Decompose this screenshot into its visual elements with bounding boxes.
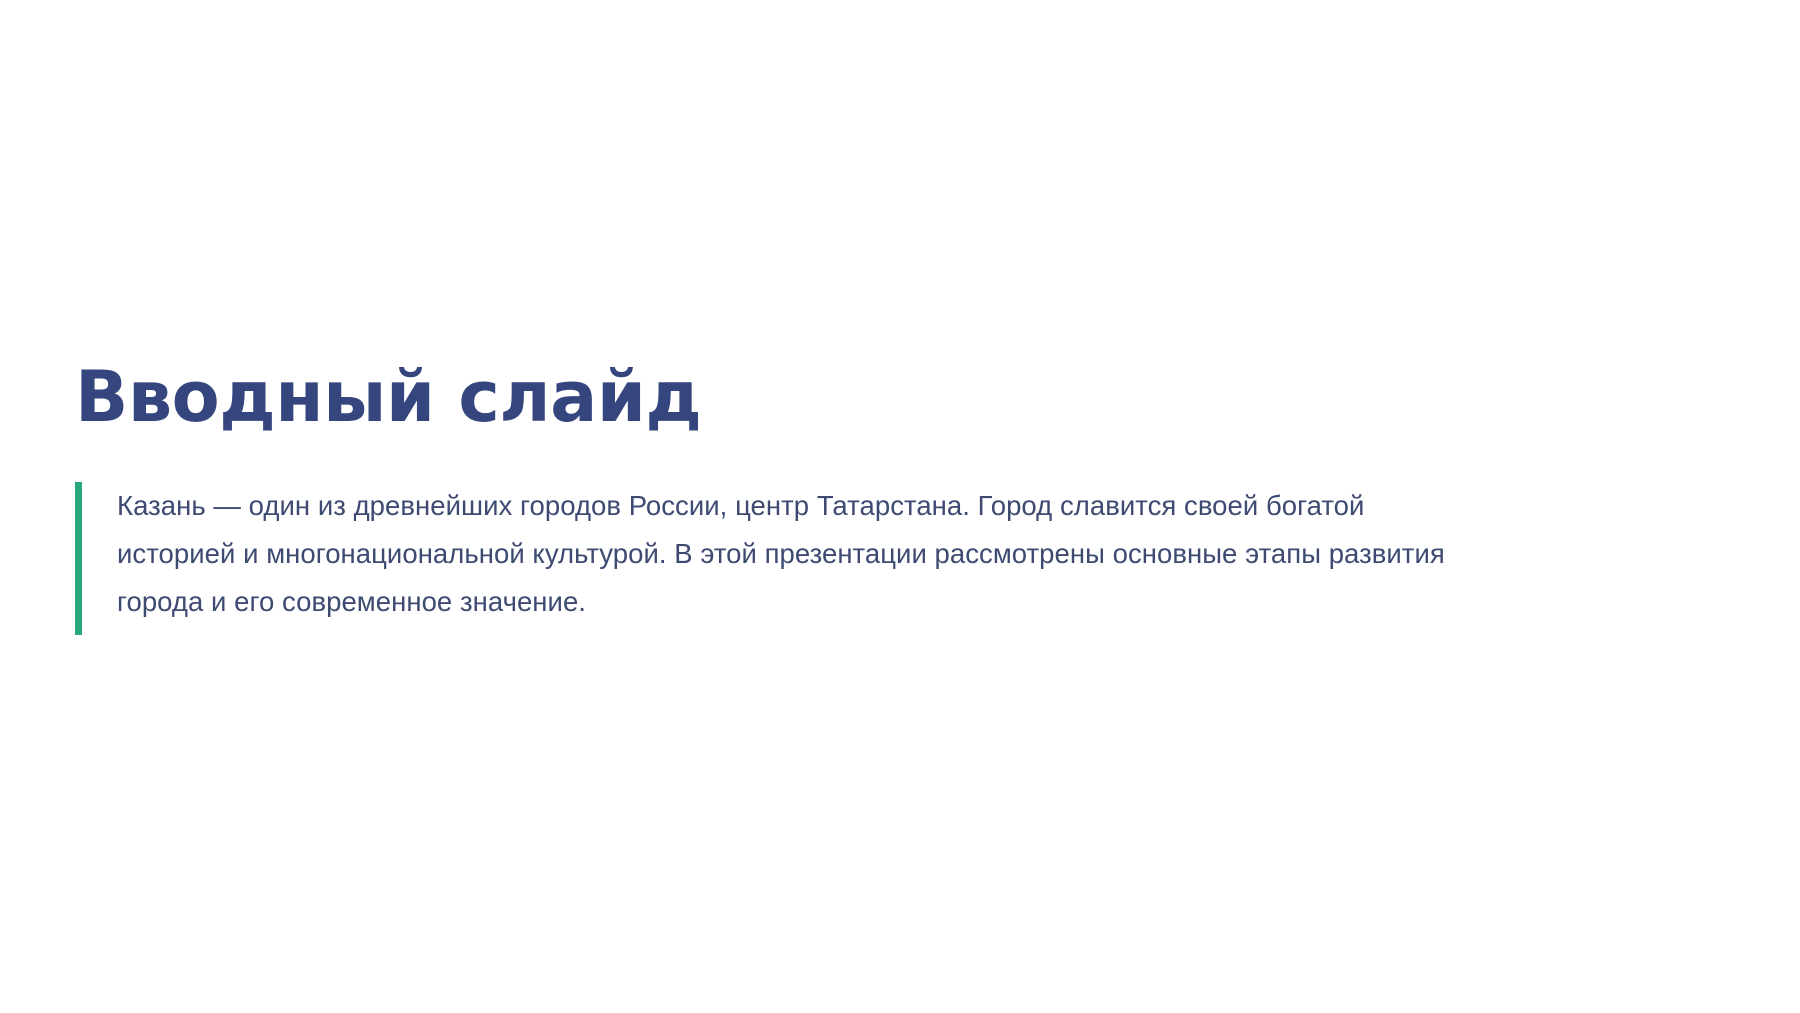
green-accent-bar (75, 482, 82, 635)
body-paragraph: Казань — один из древнейших городов Росс… (117, 482, 1455, 626)
presentation-slide: Вводный слайд Казань — один из древнейши… (0, 0, 1800, 1013)
body-quote-block: Казань — один из древнейших городов Росс… (75, 482, 1455, 626)
page-title: Вводный слайд (75, 362, 1475, 433)
slide-content-block: Вводный слайд Казань — один из древнейши… (75, 362, 1475, 626)
